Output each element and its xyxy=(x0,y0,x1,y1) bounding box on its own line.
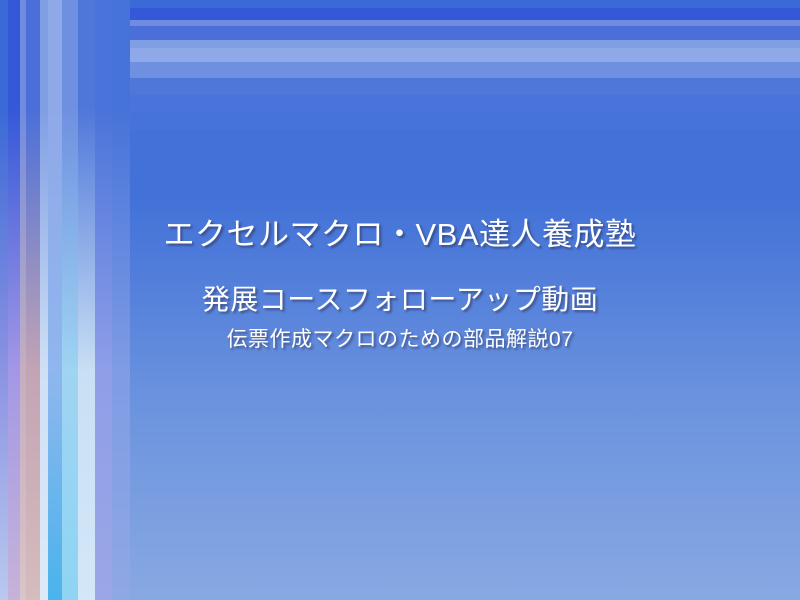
title-text-block: エクセルマクロ・VBA達人養成塾 発展コースフォローアップ動画 伝票作成マクロの… xyxy=(0,212,800,356)
caption: 伝票作成マクロのための部品解説07 xyxy=(0,324,800,356)
slide-canvas: エクセルマクロ・VBA達人養成塾 発展コースフォローアップ動画 伝票作成マクロの… xyxy=(0,0,800,600)
frame-11 xyxy=(130,130,800,600)
page-title: エクセルマクロ・VBA達人養成塾 xyxy=(0,212,800,258)
subtitle: 発展コースフォローアップ動画 xyxy=(0,278,800,322)
